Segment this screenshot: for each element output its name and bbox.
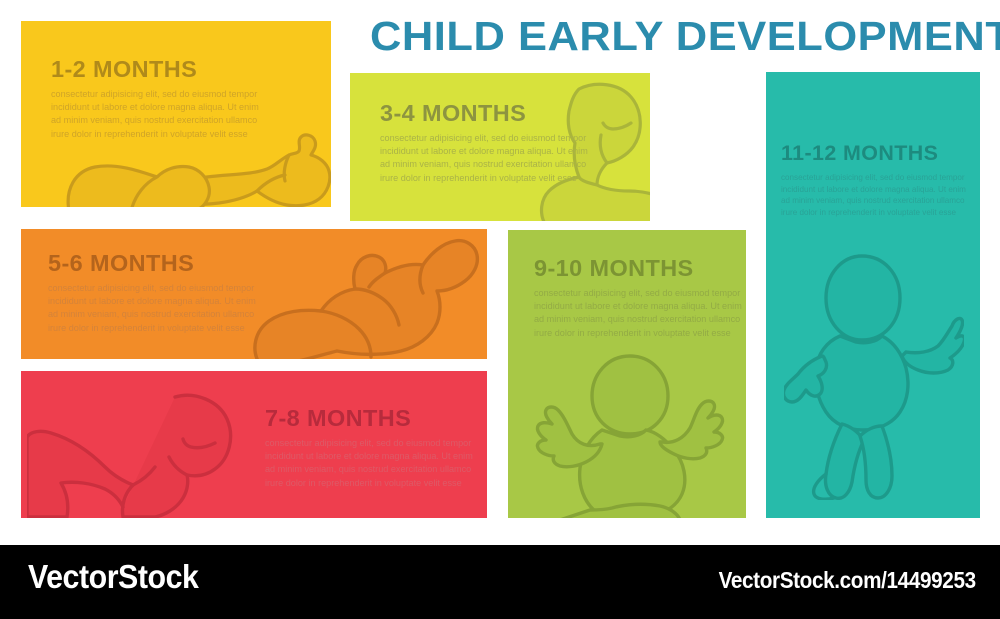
- baby-crawling-silhouette: [27, 389, 247, 518]
- panel-4-body: consectetur adipisicing elit, sed do eiu…: [265, 437, 487, 490]
- panel-2-text-block: 3-4 MONTHS consectetur adipisicing elit,…: [380, 101, 616, 185]
- panel-1-body: consectetur adipisicing elit, sed do eiu…: [51, 88, 287, 141]
- panel-3-body: consectetur adipisicing elit, sed do eiu…: [48, 282, 284, 335]
- panel-11-12-months[interactable]: 11-12 MONTHS consectetur adipisicing eli…: [766, 72, 980, 518]
- panel-6-body: consectetur adipisicing elit, sed do eiu…: [781, 172, 980, 218]
- baby-sitting-arms-up-silhouette: [530, 348, 730, 518]
- panel-4-text-block: 7-8 MONTHS consectetur adipisicing elit,…: [265, 406, 487, 490]
- panel-3-4-months[interactable]: 3-4 MONTHS consectetur adipisicing elit,…: [350, 73, 650, 221]
- panel-5-body: consectetur adipisicing elit, sed do eiu…: [534, 287, 746, 340]
- infographic-canvas: CHILD EARLY DEVELOPMENT 1-2 MONTHS conse…: [0, 0, 1000, 619]
- panel-6-text-block: 11-12 MONTHS consectetur adipisicing eli…: [781, 142, 980, 218]
- panel-7-8-months[interactable]: 7-8 MONTHS consectetur adipisicing elit,…: [21, 371, 487, 518]
- vectorstock-brand: VectorStock: [28, 558, 198, 596]
- panel-3-text-block: 5-6 MONTHS consectetur adipisicing elit,…: [48, 251, 284, 335]
- panel-1-2-months[interactable]: 1-2 MONTHS consectetur adipisicing elit,…: [21, 21, 331, 207]
- panel-2-body: consectetur adipisicing elit, sed do eiu…: [380, 132, 616, 185]
- panel-1-heading: 1-2 MONTHS: [51, 57, 292, 82]
- panel-2-heading: 3-4 MONTHS: [380, 101, 621, 126]
- baby-standing-walking-silhouette: [784, 252, 964, 500]
- panel-3-heading: 5-6 MONTHS: [48, 251, 289, 276]
- panel-4-heading: 7-8 MONTHS: [265, 406, 487, 431]
- panel-9-10-months[interactable]: 9-10 MONTHS consectetur adipisicing elit…: [508, 230, 746, 518]
- panel-6-heading: 11-12 MONTHS: [781, 142, 980, 166]
- footer-watermark-bar: VectorStock VectorStock.com/14499253: [0, 545, 1000, 619]
- panel-5-6-months[interactable]: 5-6 MONTHS consectetur adipisicing elit,…: [21, 229, 487, 359]
- vectorstock-url: VectorStock.com/14499253: [719, 567, 976, 594]
- panel-5-heading: 9-10 MONTHS: [534, 256, 746, 281]
- panel-1-text-block: 1-2 MONTHS consectetur adipisicing elit,…: [51, 57, 287, 141]
- panel-5-text-block: 9-10 MONTHS consectetur adipisicing elit…: [534, 256, 746, 340]
- page-title: CHILD EARLY DEVELOPMENT: [352, 14, 1000, 58]
